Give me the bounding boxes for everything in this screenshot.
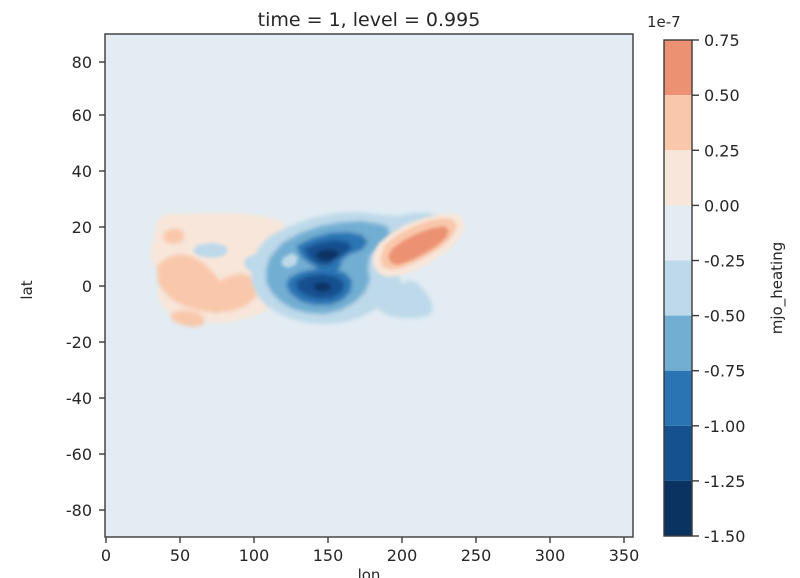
x-tick-label: 50 [170,546,190,565]
colorbar-band [664,316,692,371]
contour-figure: 80 60 40 20 0 -20 -40 -60 -80 lat 0 50 1… [0,0,800,578]
colorbar-band [664,40,692,95]
y-tick-label: 40 [72,162,92,181]
x-tick-label: 100 [239,546,270,565]
colorbar-label: mjo_heating [768,242,787,334]
plot-area [105,34,633,537]
y-tick-label: -80 [66,501,92,520]
colorbar-tick-label: 0.50 [704,86,740,105]
y-tick-label: -20 [66,333,92,352]
x-tick-label: 300 [535,546,566,565]
colorbar-tick-label: -0.75 [704,362,745,381]
colorbar-tick-label: 0.00 [704,196,740,215]
colorbar-band [664,481,692,536]
y-tick-label: -40 [66,389,92,408]
x-tick-label: 0 [101,546,111,565]
x-tick-label: 350 [609,546,640,565]
y-tick-label: 80 [72,53,92,72]
colorbar-offset-text: 1e-7 [647,13,681,31]
colorbar-band [664,426,692,481]
colorbar-tick-label: 0.75 [704,31,740,50]
y-tick-label: 60 [72,106,92,125]
y-tick-label: 20 [72,218,92,237]
colorbar-band [664,95,692,150]
x-tick-label: 250 [461,546,492,565]
colorbar-tick-label: -1.25 [704,472,745,491]
plot-title: time = 1, level = 0.995 [258,9,481,31]
colorbar-tick-label: -0.25 [704,252,745,271]
colorbar-tick-label: -0.50 [704,307,745,326]
x-tick-label: 150 [313,546,344,565]
colorbar-tick-label: 0.25 [704,141,740,160]
x-tick-label: 200 [387,546,418,565]
colorbar-tick-label: -1.00 [704,417,745,436]
colorbar-band [664,205,692,260]
y-axis-label: lat [18,280,36,299]
colorbar-band [664,371,692,426]
colorbar-tick-label: -1.50 [704,527,745,546]
y-tick-label: 0 [82,277,92,296]
x-axis-label: lon [358,566,381,578]
colorbar-band [664,261,692,316]
colorbar-band [664,150,692,205]
y-tick-label: -60 [66,445,92,464]
